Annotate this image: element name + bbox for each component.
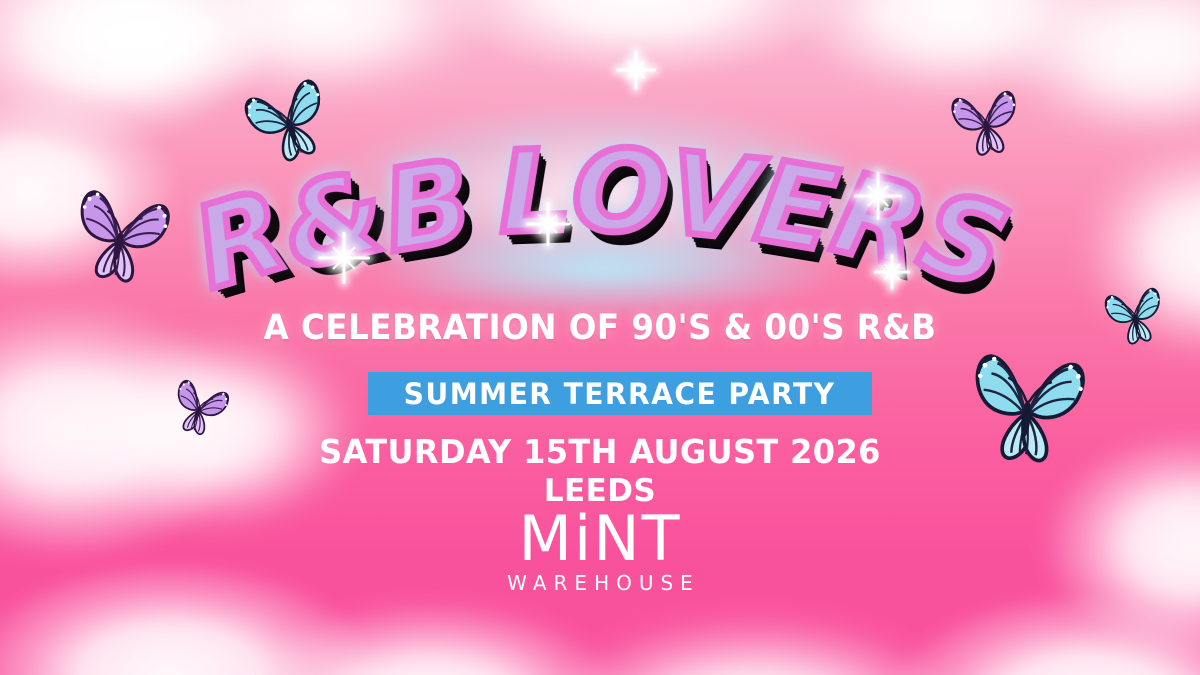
sparkle-title-mid-icon bbox=[526, 202, 570, 246]
title-glow bbox=[270, 80, 930, 340]
event-date: SATURDAY 15TH AUGUST 2026 bbox=[18, 432, 1182, 471]
banner-label: SUMMER TERRACE PARTY bbox=[404, 377, 836, 411]
title-letter: S bbox=[909, 175, 1017, 305]
butterfly-purple-top-right-icon bbox=[945, 83, 1026, 164]
cloud bbox=[880, 590, 1200, 675]
tagline: A CELEBRATION OF 90'S & 00'S R&B bbox=[42, 308, 1158, 348]
cloud bbox=[1000, 0, 1200, 140]
poster-title: R&BLOVERS bbox=[0, 104, 1200, 304]
title-letter: R bbox=[824, 157, 932, 285]
sparkle-title-right-icon bbox=[854, 172, 902, 220]
sparkle-title-far-right-icon bbox=[874, 254, 910, 290]
title-letter: V bbox=[664, 137, 759, 257]
venue-name: MiNT bbox=[0, 510, 1200, 569]
title-letter: R bbox=[183, 175, 296, 307]
cloud bbox=[150, 0, 490, 100]
title-letter: & bbox=[274, 156, 393, 287]
title-arc: R&BLOVERS bbox=[214, 104, 986, 294]
sparkle-title-left-icon bbox=[318, 232, 370, 284]
title-letter: L bbox=[498, 135, 571, 249]
cloud bbox=[0, 0, 270, 145]
cloud bbox=[790, 0, 1120, 100]
title-letter: O bbox=[571, 135, 668, 250]
venue-subtitle: WAREHOUSE bbox=[0, 571, 1200, 595]
cloud bbox=[230, 600, 630, 675]
sparkle-title-center-top-icon bbox=[616, 50, 656, 90]
title-letter: E bbox=[749, 146, 841, 269]
cloud bbox=[540, 615, 970, 675]
butterfly-cyan-top-left-icon bbox=[235, 69, 343, 177]
summer-terrace-party-banner: SUMMER TERRACE PARTY bbox=[368, 372, 872, 415]
event-poster: R&BLOVERS A CELEBRATION OF 90'S & 00'S R… bbox=[0, 0, 1200, 675]
butterfly-purple-left-icon bbox=[61, 179, 180, 298]
cloud bbox=[30, 0, 280, 110]
cloud bbox=[430, 0, 850, 80]
venue-logo: MiNT WAREHOUSE bbox=[0, 510, 1200, 595]
cloud bbox=[0, 90, 180, 290]
title-letter: B bbox=[376, 145, 477, 269]
